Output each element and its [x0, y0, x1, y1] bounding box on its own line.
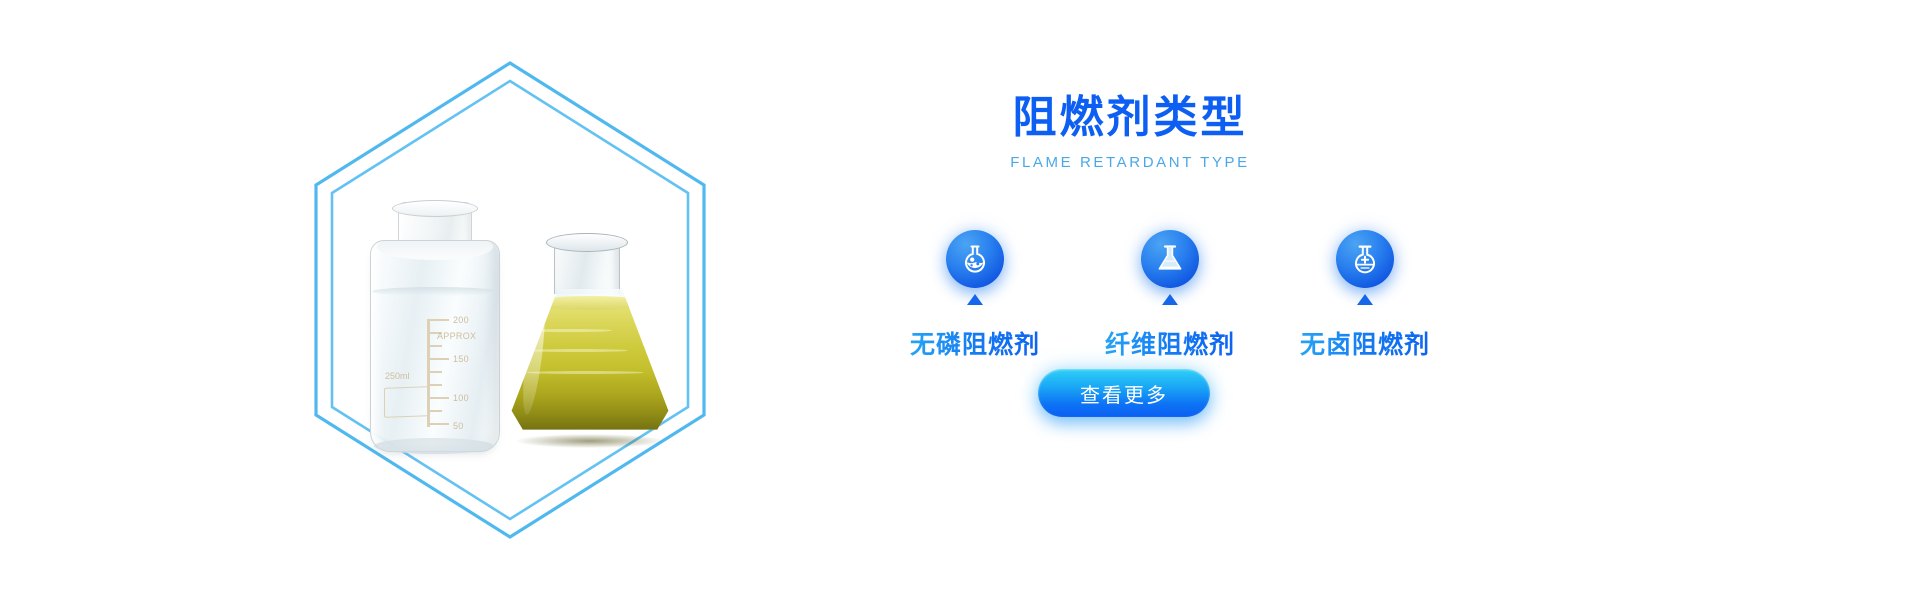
graduation-label-50: 50 [453, 421, 464, 431]
type-label: 无卤阻燃剂 [1280, 325, 1450, 361]
pointer-triangle [1357, 294, 1373, 305]
graduation-label-approx: APPROX [437, 331, 476, 341]
type-item-no-phosphorus[interactable]: 无磷阻燃剂 [890, 230, 1060, 361]
heading-block: 阻燃剂类型 FLAME RETARDANT TYPE [890, 96, 1370, 171]
graduation-label-150: 150 [453, 354, 469, 364]
icon-wrap [946, 230, 1004, 288]
type-item-halogen-free[interactable]: 无卤阻燃剂 [1280, 230, 1450, 361]
chemical-product-photo: 200 APPROX 150 100 50 250ml [360, 150, 670, 450]
page-subtitle: FLAME RETARDANT TYPE [890, 154, 1370, 171]
type-list: 无磷阻燃剂 纤维阻燃剂 [890, 230, 1450, 361]
erlenmeyer-flask-icon [1141, 230, 1199, 288]
bottle-volume-label: 250ml [385, 371, 410, 381]
icon-wrap [1336, 230, 1394, 288]
flask-lip [546, 233, 628, 252]
round-flask-plus-icon [1336, 230, 1394, 288]
page-title: 阻燃剂类型 [890, 96, 1370, 140]
pointer-triangle [1162, 294, 1178, 305]
bottle-body: 200 APPROX 150 100 50 250ml [370, 240, 500, 452]
bottle-label-box [384, 386, 430, 418]
graduation-label-200: 200 [453, 315, 469, 325]
product-visual: 200 APPROX 150 100 50 250ml [300, 55, 720, 545]
icon-wrap [1141, 230, 1199, 288]
bottle-base [374, 438, 494, 454]
pointer-triangle [967, 294, 983, 305]
bottle-lip [392, 200, 478, 217]
view-more-button[interactable]: 查看更多 [1038, 369, 1210, 417]
flame-retardant-banner: 200 APPROX 150 100 50 250ml [0, 0, 1920, 600]
erlenmeyer-flask-photo [510, 233, 670, 446]
type-item-fiber[interactable]: 纤维阻燃剂 [1085, 230, 1255, 361]
type-label: 纤维阻燃剂 [1085, 325, 1255, 361]
reagent-bottle: 200 APPROX 150 100 50 250ml [370, 202, 498, 450]
bottle-shoulder [377, 240, 493, 260]
round-flask-bubbles-icon [946, 230, 1004, 288]
flask-base-shadow [516, 434, 664, 448]
type-label: 无磷阻燃剂 [890, 325, 1060, 361]
graduation-label-100: 100 [453, 393, 469, 403]
bottle-liquid-surface [372, 287, 498, 296]
content-panel: 阻燃剂类型 FLAME RETARDANT TYPE [890, 96, 1630, 171]
